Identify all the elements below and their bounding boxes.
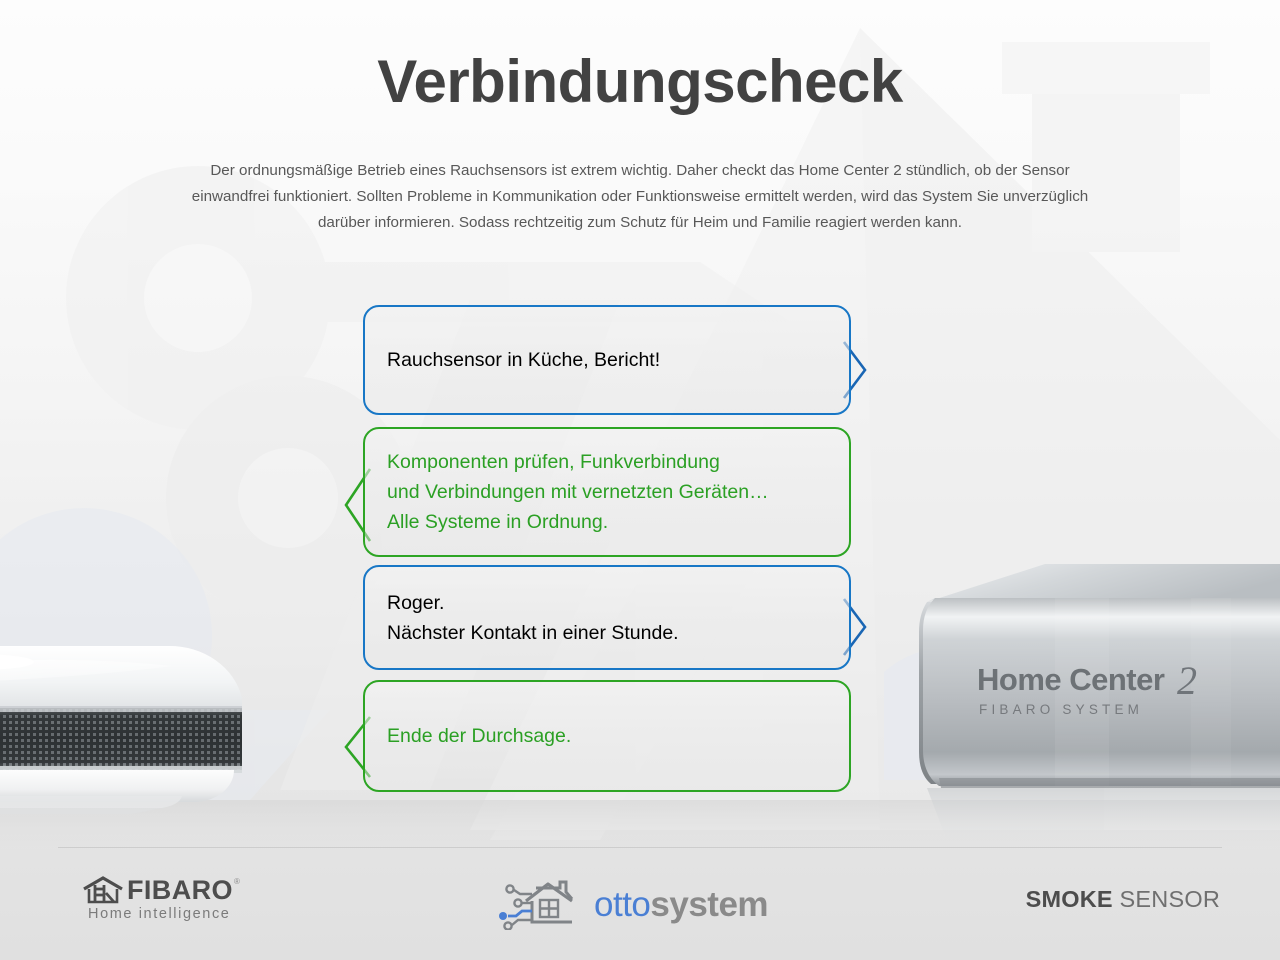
hc2-brandline: FIBARO SYSTEM xyxy=(979,702,1143,717)
bubble-2-line-2: und Verbindungen mit vernetzten Geräten… xyxy=(365,477,849,507)
ottosystem-wordmark: ottosystem xyxy=(594,887,768,923)
hc2-title: Home Center xyxy=(977,662,1165,697)
bubble-row-3: Roger. Nächster Kontakt in einer Stunde. xyxy=(340,565,870,677)
bubble-3-line-2: Nächster Kontakt in einer Stunde. xyxy=(365,618,849,648)
speech-bubble-3[interactable]: Roger. Nächster Kontakt in einer Stunde. xyxy=(363,565,851,670)
footer-divider xyxy=(58,847,1222,848)
hc2-model-digit: 2 xyxy=(1177,658,1197,703)
bubble-row-1: Rauchsensor in Küche, Bericht! xyxy=(340,305,870,417)
home-center-2-device: Home Center 2 FIBARO SYSTEM xyxy=(905,562,1280,850)
fibaro-logo: FIBARO ® Home intelligence xyxy=(82,876,252,924)
slide-root: Verbindungscheck Der ordnungsmäßige Betr… xyxy=(0,0,1280,960)
bubble-2-line-3: Alle Systeme in Ordnung. xyxy=(365,507,849,537)
fibaro-wordmark: FIBARO xyxy=(127,876,233,904)
bubble-2-line-1: Komponenten prüfen, Funkverbindung xyxy=(365,447,849,477)
bubble-row-4: Ende der Durchsage. xyxy=(340,680,870,798)
bubble-1-line-1: Rauchsensor in Küche, Bericht! xyxy=(365,345,849,375)
otto-word-part1: otto xyxy=(594,885,650,924)
fibaro-house-icon xyxy=(82,876,124,904)
ottosystem-house-circuit-icon xyxy=(498,880,584,930)
smoke-sensor-device xyxy=(0,636,250,814)
page-title: Verbindungscheck xyxy=(0,52,1280,112)
speech-bubble-1[interactable]: Rauchsensor in Küche, Bericht! xyxy=(363,305,851,415)
otto-word-part2: system xyxy=(650,885,768,924)
product-name-light: SENSOR xyxy=(1113,886,1220,912)
conversation-list: Rauchsensor in Küche, Bericht! Komponent… xyxy=(340,305,880,795)
bubble-3-line-1: Roger. xyxy=(365,588,849,618)
ottosystem-logo: ottosystem xyxy=(498,879,768,931)
intro-paragraph: Der ordnungsmäßige Betrieb eines Rauchse… xyxy=(170,158,1110,236)
bubble-4-line-1: Ende der Durchsage. xyxy=(365,721,849,751)
bubble-row-2: Komponenten prüfen, Funkverbindung und V… xyxy=(340,427,870,563)
speech-bubble-4[interactable]: Ende der Durchsage. xyxy=(363,680,851,792)
fibaro-registered-mark: ® xyxy=(234,877,240,886)
product-name-label: SMOKE SENSOR xyxy=(1026,886,1220,912)
product-name-bold: SMOKE xyxy=(1026,886,1113,912)
fibaro-tagline: Home intelligence xyxy=(88,905,230,923)
speech-bubble-2[interactable]: Komponenten prüfen, Funkverbindung und V… xyxy=(363,427,851,557)
